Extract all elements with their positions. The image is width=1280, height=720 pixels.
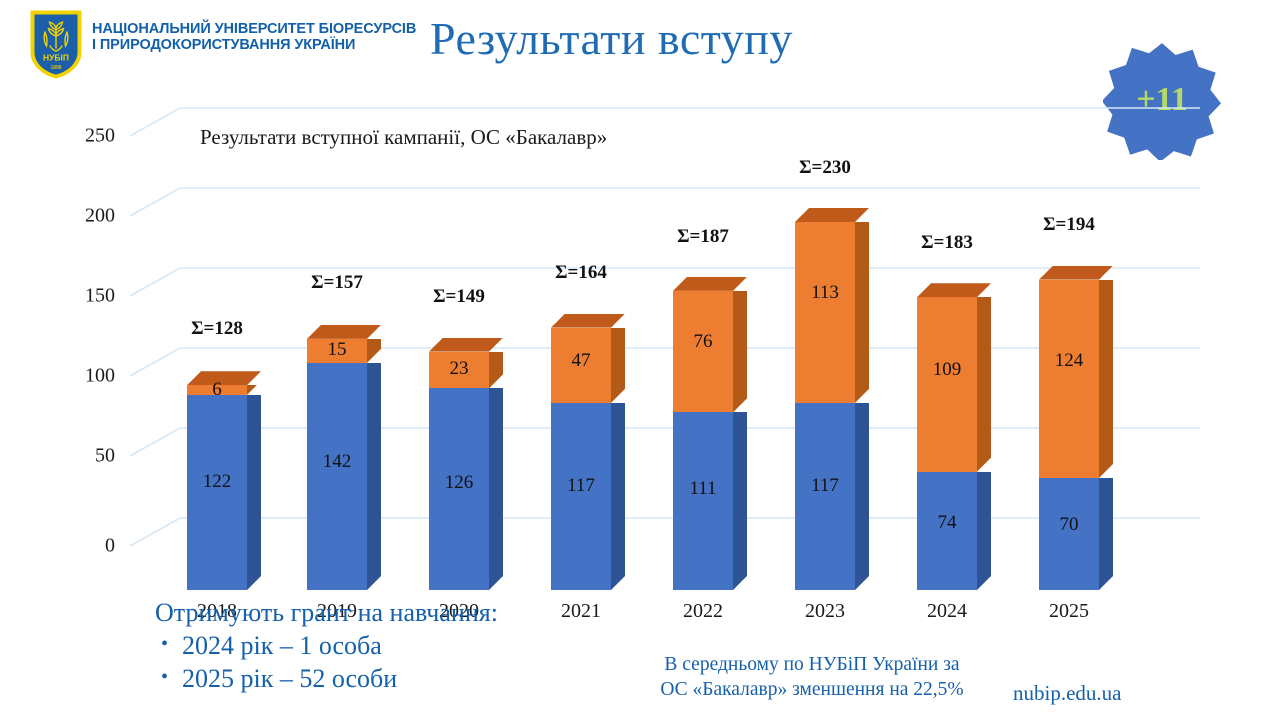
segment-side-face <box>611 403 625 590</box>
average-note-line-1: В середньому по НУБіП України за <box>612 652 1012 677</box>
bar-value-label: 111 <box>673 478 733 500</box>
segment-front-face <box>795 222 855 403</box>
segment-side-face <box>1099 280 1113 478</box>
grant-heading: Отримують грант на навчання: <box>155 598 498 629</box>
bar-segment-orange-2023: 113 <box>795 222 855 403</box>
admission-results-chart: 250 200 150 100 50 0 Результати вступної… <box>0 90 1200 590</box>
segment-side-face <box>611 328 625 403</box>
grant-info-block: Отримують грант на навчання: • 2024 рік … <box>155 598 498 695</box>
bar-total-label: Σ=183 <box>905 232 989 254</box>
bullet-icon: • <box>161 629 168 662</box>
bar-total-label: Σ=194 <box>1027 214 1111 236</box>
segment-front-face <box>307 363 367 590</box>
bar-segment-orange-2020: 23 <box>429 352 489 389</box>
brand-line-1: НАЦІОНАЛЬНИЙ УНІВЕРСИТЕТ БІОРЕСУРСІВ <box>92 21 416 37</box>
bar-value-label: 109 <box>917 359 977 381</box>
segment-side-face <box>247 395 261 590</box>
bar-value-label: 70 <box>1039 514 1099 536</box>
bar-segment-orange-2025: 124 <box>1039 280 1099 478</box>
bar-segment-blue-2020: 126 <box>429 388 489 590</box>
y-axis-tick: 150 <box>55 285 115 308</box>
segment-side-face <box>247 385 261 395</box>
bar-column-2018: 122 6 Σ=128 2018 <box>187 135 247 590</box>
segment-side-face <box>855 222 869 403</box>
list-item: • 2024 рік – 1 особа <box>155 629 498 662</box>
slide-canvas: НУБІП 1898 НАЦІОНАЛЬНИЙ УНІВЕРСИТЕТ БІОР… <box>0 0 1280 720</box>
average-note: В середньому по НУБіП України за ОС «Бак… <box>612 652 1012 703</box>
nubip-shield-logo-icon: НУБІП 1898 <box>28 8 84 80</box>
x-axis-tick-2024: 2024 <box>903 600 991 623</box>
university-name: НАЦІОНАЛЬНИЙ УНІВЕРСИТЕТ БІОРЕСУРСІВ І П… <box>92 8 416 53</box>
y-axis-tick: 50 <box>55 445 115 468</box>
bar-value-label: 126 <box>429 472 489 494</box>
segment-top-face <box>917 283 991 297</box>
bar-segment-orange-2022: 76 <box>673 291 733 413</box>
segment-top-face <box>307 325 381 339</box>
bar-segment-orange-2018: 6 <box>187 385 247 395</box>
segment-side-face <box>977 472 991 590</box>
bullet-icon: • <box>161 662 168 695</box>
bar-total-label: Σ=164 <box>539 262 623 284</box>
bar-total-label: Σ=157 <box>295 272 379 294</box>
list-item: • 2025 рік – 52 особи <box>155 662 498 695</box>
segment-side-face <box>367 363 381 590</box>
logo-acronym-text: НУБІП <box>43 53 69 63</box>
university-brand-block: НУБІП 1898 НАЦІОНАЛЬНИЙ УНІВЕРСИТЕТ БІОР… <box>28 8 416 80</box>
bar-segment-blue-2025: 70 <box>1039 478 1099 590</box>
segment-top-face <box>673 277 747 291</box>
bar-segment-blue-2019: 142 <box>307 363 367 590</box>
grant-item-label: 2024 рік – 1 особа <box>182 629 382 662</box>
segment-front-face <box>1039 280 1099 478</box>
segment-top-face <box>1039 266 1113 280</box>
chart-title: Результати вступної кампанії, ОС «Бакала… <box>200 125 607 150</box>
segment-top-face <box>429 338 503 352</box>
bar-value-label: 117 <box>795 475 855 497</box>
bar-column-2023: 117 113 Σ=230 2023 <box>795 135 855 590</box>
bar-value-label: 47 <box>551 350 611 372</box>
bar-value-label: 124 <box>1039 350 1099 372</box>
bar-column-2021: 117 47 Σ=164 2021 <box>551 135 611 590</box>
x-axis-tick-2022: 2022 <box>659 600 747 623</box>
bar-column-2025: 70 124 Σ=194 2025 <box>1039 135 1099 590</box>
segment-top-face <box>795 208 869 222</box>
segment-side-face <box>367 339 381 363</box>
site-url[interactable]: nubip.edu.ua <box>1013 681 1121 706</box>
bar-value-label: 122 <box>187 471 247 493</box>
bar-total-label: Σ=230 <box>783 157 867 179</box>
segment-front-face <box>917 297 977 471</box>
bar-value-label: 117 <box>551 475 611 497</box>
average-note-line-2: ОС «Бакалавр» зменшення на 22,5% <box>612 677 1012 702</box>
page-title: Результати вступу <box>430 12 793 65</box>
segment-side-face <box>977 297 991 471</box>
bar-total-label: Σ=149 <box>417 286 501 308</box>
bar-value-label: 113 <box>795 282 855 304</box>
bar-value-label: 74 <box>917 512 977 534</box>
logo-year-text: 1898 <box>50 65 61 71</box>
segment-side-face <box>733 412 747 590</box>
brand-line-2: І ПРИРОДОКОРИСТУВАННЯ УКРАЇНИ <box>92 37 416 53</box>
grant-item-label: 2025 рік – 52 особи <box>182 662 397 695</box>
bar-column-2022: 111 76 Σ=187 2022 <box>673 135 733 590</box>
bar-segment-blue-2021: 117 <box>551 403 611 590</box>
bar-column-2024: 74 109 Σ=183 2024 <box>917 135 977 590</box>
bar-value-label: 15 <box>307 339 367 361</box>
x-axis-tick-2023: 2023 <box>781 600 869 623</box>
bar-segment-orange-2019: 15 <box>307 339 367 363</box>
segment-side-face <box>733 291 747 413</box>
y-axis-tick: 0 <box>55 535 115 558</box>
bar-value-label: 23 <box>429 358 489 380</box>
segment-front-face <box>673 412 733 590</box>
bar-segment-blue-2024: 74 <box>917 472 977 590</box>
bar-total-label: Σ=128 <box>175 318 259 340</box>
y-axis-tick: 250 <box>55 125 115 148</box>
y-axis-tick: 100 <box>55 365 115 388</box>
bar-column-2019: 142 15 Σ=157 2019 <box>307 135 367 590</box>
bar-segment-blue-2018: 122 <box>187 395 247 590</box>
x-axis-tick-2025: 2025 <box>1025 600 1113 623</box>
segment-side-face <box>489 388 503 590</box>
bar-column-2020: 126 23 Σ=149 2020 <box>429 135 489 590</box>
segment-side-face <box>1099 478 1113 590</box>
bar-total-label: Σ=187 <box>661 226 745 248</box>
bar-value-label: 76 <box>673 331 733 353</box>
x-axis-tick-2021: 2021 <box>537 600 625 623</box>
bar-value-label: 142 <box>307 451 367 473</box>
bar-segment-blue-2023: 117 <box>795 403 855 590</box>
bar-segment-orange-2021: 47 <box>551 328 611 403</box>
segment-side-face <box>489 352 503 389</box>
segment-top-face <box>551 314 625 328</box>
segment-side-face <box>855 403 869 590</box>
bar-segment-blue-2022: 111 <box>673 412 733 590</box>
bar-segment-orange-2024: 109 <box>917 297 977 471</box>
bar-value-label: 6 <box>187 379 247 401</box>
y-axis-tick: 200 <box>55 205 115 228</box>
